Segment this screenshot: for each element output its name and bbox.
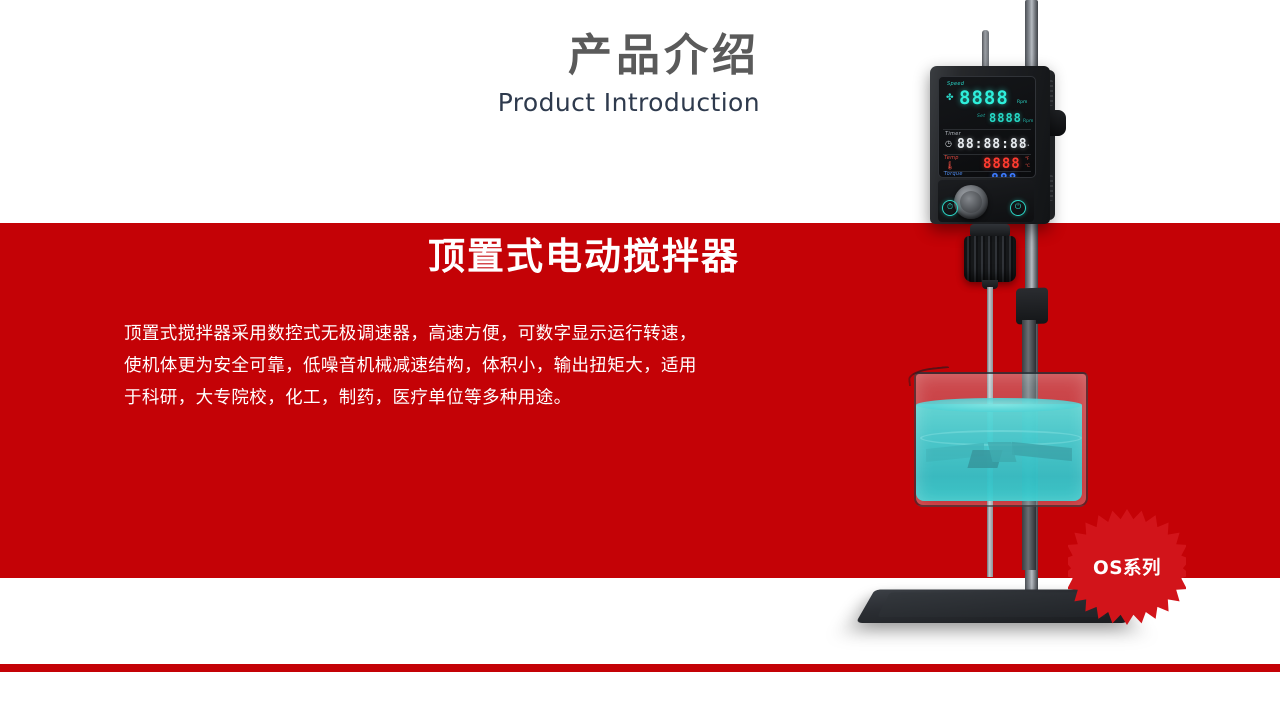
pole-clamp bbox=[1016, 287, 1048, 324]
thermometer-icon: 🌡 bbox=[945, 161, 955, 170]
speed-readout-row: Speed ✤ 8888 Rpm bbox=[939, 81, 1035, 115]
torque-readout-row: Torque ⟳ 888 N·cm bbox=[939, 172, 1035, 178]
temperature-readout-row: Temp 🌡 8888 ℉ ℃ bbox=[939, 155, 1035, 172]
speed-control-knob[interactable] bbox=[954, 185, 988, 219]
timer-value: 88:88:88 bbox=[957, 137, 1028, 152]
display-divider-1 bbox=[943, 129, 1031, 130]
speed-unit: Rpm bbox=[1017, 100, 1027, 105]
propeller-icon: ✤ bbox=[946, 93, 954, 103]
timer-indicator-dots: ••• bbox=[1021, 143, 1030, 149]
series-badge: OS系列 bbox=[1068, 508, 1186, 626]
description-line-1: 顶置式搅拌器采用数控式无极调速器，高速方便，可数字显示运行转速， bbox=[124, 318, 749, 350]
temp-value: 8888 bbox=[983, 156, 1021, 172]
description-line-2: 使机体更为安全可靠，低噪音机械减速结构，体积小，输出扭矩大，适用 bbox=[124, 350, 749, 382]
control-display-screen: Speed ✤ 8888 Rpm Set 8888 Rpm Timer ◷ 88… bbox=[938, 76, 1036, 178]
footer-rule bbox=[0, 664, 1280, 672]
power-button[interactable]: ⏻ bbox=[1010, 200, 1026, 216]
clock-icon: ◷ bbox=[945, 139, 952, 148]
temp-unit-celsius: ℃ bbox=[1025, 164, 1030, 169]
timer-readout-row: Timer ◷ 88:88:88 ••• bbox=[939, 131, 1035, 155]
glass-beaker bbox=[914, 372, 1088, 507]
set-label: Set bbox=[977, 114, 985, 119]
temp-unit-fahrenheit: ℉ bbox=[1025, 157, 1029, 162]
badge-label: OS系列 bbox=[1068, 508, 1186, 626]
set-value: 8888 bbox=[989, 111, 1022, 125]
set-speed-row: Set 8888 Rpm bbox=[939, 111, 1035, 127]
speed-value: 8888 bbox=[959, 87, 1009, 109]
product-description: 顶置式搅拌器采用数控式无极调速器，高速方便，可数字显示运行转速， 使机体更为安全… bbox=[124, 318, 749, 414]
drill-chuck bbox=[964, 236, 1016, 282]
page-subtitle: Product Introduction bbox=[0, 88, 760, 118]
description-line-3: 于科研，大专院校，化工，制药，医疗单位等多种用途。 bbox=[124, 382, 749, 414]
page-title: 产品介绍 bbox=[0, 30, 760, 82]
torque-icon: ⟳ bbox=[945, 177, 952, 178]
torque-value: 888 bbox=[991, 172, 1017, 178]
timer-button[interactable]: ⏱ bbox=[942, 200, 958, 216]
product-title: 顶置式电动搅拌器 bbox=[0, 234, 740, 280]
set-unit: Rpm bbox=[1023, 119, 1033, 124]
header-text-group: 产品介绍 Product Introduction bbox=[0, 30, 760, 118]
slide-canvas: 产品介绍 Product Introduction 顶置式电动搅拌器 顶置式搅拌… bbox=[0, 0, 1280, 720]
